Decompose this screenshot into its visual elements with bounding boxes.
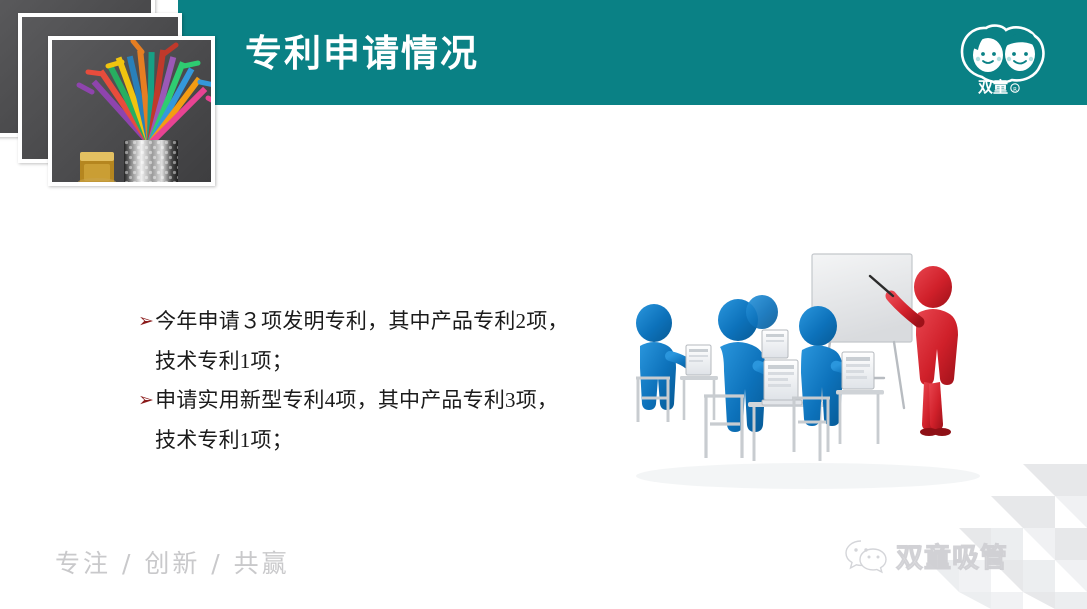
body-text-block: ➢今年申请３项发明专利，其中产品专利2项， 技术专利1项； ➢申请实用新型专利4… xyxy=(138,302,608,460)
page-title: 专利申请情况 xyxy=(245,32,479,76)
classroom-presentation-illustration xyxy=(622,248,994,490)
boy-face-icon xyxy=(1005,33,1035,71)
straw-product-photo-stack xyxy=(0,0,215,190)
watermark-text: 双童吸管 xyxy=(896,536,1008,575)
girl-face-icon xyxy=(973,31,1003,72)
slide-canvas: 专利申请情况 xyxy=(0,0,1087,609)
photo-frame-front xyxy=(48,36,215,186)
bullet-arrow-icon: ➢ xyxy=(138,302,154,341)
bullet-line-4: 技术专利1项； xyxy=(138,421,608,460)
laptop xyxy=(686,345,711,375)
gold-glass xyxy=(78,152,116,182)
bullet-line-3-text: 申请实用新型专利4项，其中产品专利3项， xyxy=(155,388,558,412)
laptop-back xyxy=(762,330,788,358)
registered-mark-icon: R xyxy=(1011,84,1019,93)
laptop xyxy=(842,352,874,389)
svg-text:R: R xyxy=(1013,87,1017,93)
wechat-watermark: 双童吸管 xyxy=(845,536,1008,575)
bullet-arrow-icon: ➢ xyxy=(138,381,154,420)
bullet-line-1: ➢今年申请３项发明专利，其中产品专利2项， xyxy=(138,302,608,342)
brand-logo: 双童 R xyxy=(952,22,1056,96)
straw-holder xyxy=(124,140,178,182)
logo-brand-text: 双童 xyxy=(978,78,1008,96)
bullet-line-1-text: 今年申请３项发明专利，其中产品专利2项， xyxy=(155,309,569,333)
bullet-line-3: ➢申请实用新型专利4项，其中产品专利3项， xyxy=(138,381,608,421)
bullet-line-2: 技术专利1项； xyxy=(138,342,608,381)
footer-tagline: 专注 / 创新 / 共赢 xyxy=(55,544,290,580)
wechat-icon xyxy=(845,538,887,574)
